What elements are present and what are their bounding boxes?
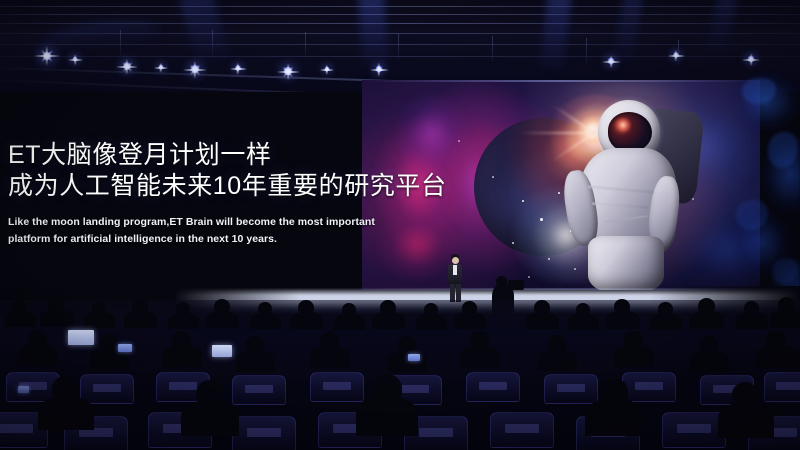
phone-screen	[212, 345, 232, 357]
audience-seat	[232, 375, 286, 405]
audience-seat	[622, 372, 676, 402]
phone-screen	[68, 330, 94, 345]
audience-seat	[310, 372, 364, 402]
audience-seat	[764, 372, 800, 402]
astronaut-legs	[588, 236, 664, 290]
keynote-stage-scene: ET大脑像登月计划一样 成为人工智能未来10年重要的研究平台 Like the …	[0, 0, 800, 450]
audience-seat	[544, 374, 598, 404]
camera-rig	[508, 280, 524, 290]
astronaut-visor	[608, 112, 652, 152]
visor-glint	[614, 118, 632, 132]
phone-screen	[118, 344, 132, 352]
light-beam	[358, 0, 389, 67]
phone-screen	[18, 386, 29, 393]
presenter-shirt	[453, 265, 457, 275]
side-foliage	[680, 60, 800, 320]
presenter	[446, 254, 464, 302]
subtitle-line-2: platform for artificial intelligence in …	[8, 231, 428, 248]
presenter-head	[452, 257, 459, 264]
headline-line-1: ET大脑像登月计划一样	[8, 140, 428, 171]
audience-seat	[466, 372, 520, 402]
subtitle-line-1: Like the moon landing program,ET Brain w…	[8, 214, 428, 231]
subtitle-block: Like the moon landing program,ET Brain w…	[8, 214, 428, 248]
audience-seat	[490, 412, 554, 448]
audience-seat	[232, 416, 296, 450]
phone-screen	[408, 354, 420, 361]
slide-text-overlay: ET大脑像登月计划一样 成为人工智能未来10年重要的研究平台 Like the …	[8, 140, 428, 248]
camera-operator-head	[496, 276, 507, 287]
audience-seat	[80, 374, 134, 404]
audience-seat	[662, 412, 726, 448]
headline-line-2: 成为人工智能未来10年重要的研究平台	[8, 171, 428, 202]
